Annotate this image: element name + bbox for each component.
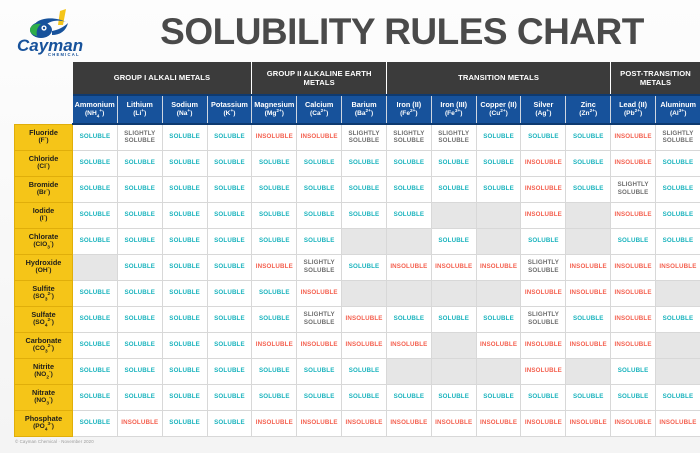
- table-row: Chloride(Cl-)SOLUBLESOLUBLESOLUBLESOLUBL…: [15, 150, 700, 176]
- cell-fluoride-calcium: INSOLUBLE: [297, 124, 342, 150]
- cell-bromide-iron-iii: SOLUBLE: [431, 176, 476, 202]
- svg-text:CHEMICAL: CHEMICAL: [48, 52, 80, 57]
- cell-nitrate-lead-ii: SOLUBLE: [611, 384, 656, 410]
- cell-nitrite-potassium: SOLUBLE: [207, 358, 252, 384]
- cell-hydroxide-calcium: SLIGHTLY SOLUBLE: [297, 254, 342, 280]
- cell-nitrate-zinc: SOLUBLE: [566, 384, 611, 410]
- anion-header-nitrate: Nitrate(NO3-): [15, 384, 73, 410]
- cell-carbonate-silver: INSOLUBLE: [521, 332, 566, 358]
- cell-chlorate-zinc: [566, 228, 611, 254]
- cell-phosphate-ammonium: SOLUBLE: [73, 410, 118, 436]
- anion-header-chlorate: Chlorate(ClO3-): [15, 228, 73, 254]
- cell-sulfite-sodium: SOLUBLE: [162, 280, 207, 306]
- cell-chlorate-lead-ii: SOLUBLE: [611, 228, 656, 254]
- cell-carbonate-lead-ii: INSOLUBLE: [611, 332, 656, 358]
- cell-nitrite-zinc: [566, 358, 611, 384]
- cell-iodide-barium: SOLUBLE: [342, 202, 387, 228]
- cell-carbonate-copper-ii: INSOLUBLE: [476, 332, 521, 358]
- cell-bromide-aluminum: SOLUBLE: [656, 176, 700, 202]
- cell-sulfite-iron-iii: [431, 280, 476, 306]
- cell-fluoride-zinc: SOLUBLE: [566, 124, 611, 150]
- cell-nitrite-ammonium: SOLUBLE: [73, 358, 118, 384]
- cell-chlorate-barium: [342, 228, 387, 254]
- solubility-table: GROUP I ALKALI METALSGROUP II ALKALINE E…: [14, 62, 700, 437]
- cell-sulfite-magnesium: SOLUBLE: [252, 280, 297, 306]
- cell-carbonate-aluminum: [656, 332, 700, 358]
- cell-sulfite-silver: INSOLUBLE: [521, 280, 566, 306]
- cell-hydroxide-copper-ii: INSOLUBLE: [476, 254, 521, 280]
- cell-sulfite-potassium: SOLUBLE: [207, 280, 252, 306]
- copyright-footer: © Cayman Chemical · November 2020: [15, 439, 700, 444]
- cell-sulfate-lead-ii: INSOLUBLE: [611, 306, 656, 332]
- cell-sulfate-sodium: SOLUBLE: [162, 306, 207, 332]
- cell-fluoride-silver: SOLUBLE: [521, 124, 566, 150]
- cell-sulfate-barium: INSOLUBLE: [342, 306, 387, 332]
- cell-phosphate-silver: INSOLUBLE: [521, 410, 566, 436]
- cayman-chemical-logo: Cayman CHEMICAL: [14, 5, 110, 57]
- cell-bromide-sodium: SOLUBLE: [162, 176, 207, 202]
- cell-hydroxide-potassium: SOLUBLE: [207, 254, 252, 280]
- cell-chlorate-calcium: SOLUBLE: [297, 228, 342, 254]
- cell-sulfate-iron-iii: SOLUBLE: [431, 306, 476, 332]
- group-header-0: GROUP I ALKALI METALS: [73, 62, 252, 95]
- cell-chlorate-potassium: SOLUBLE: [207, 228, 252, 254]
- cell-nitrate-copper-ii: SOLUBLE: [476, 384, 521, 410]
- cell-iodide-sodium: SOLUBLE: [162, 202, 207, 228]
- cell-sulfite-iron-ii: [386, 280, 431, 306]
- cell-hydroxide-iron-ii: INSOLUBLE: [386, 254, 431, 280]
- table-row: Bromide(Br-)SOLUBLESOLUBLESOLUBLESOLUBLE…: [15, 176, 700, 202]
- cell-fluoride-lead-ii: INSOLUBLE: [611, 124, 656, 150]
- cell-phosphate-iron-iii: INSOLUBLE: [431, 410, 476, 436]
- cell-chlorate-lithium: SOLUBLE: [117, 228, 162, 254]
- cell-hydroxide-ammonium: [73, 254, 118, 280]
- cell-hydroxide-lithium: SOLUBLE: [117, 254, 162, 280]
- cell-bromide-ammonium: SOLUBLE: [73, 176, 118, 202]
- cell-hydroxide-iron-iii: INSOLUBLE: [431, 254, 476, 280]
- cation-header-copper-ii: Copper (II)(Cu2+): [476, 95, 521, 124]
- cell-nitrite-aluminum: [656, 358, 700, 384]
- table-row: Fluoride(F-)SOLUBLESLIGHTLY SOLUBLESOLUB…: [15, 124, 700, 150]
- anion-header-carbonate: Carbonate(CO32-): [15, 332, 73, 358]
- cell-sulfite-copper-ii: [476, 280, 521, 306]
- cell-carbonate-iron-iii: [431, 332, 476, 358]
- cell-phosphate-copper-ii: INSOLUBLE: [476, 410, 521, 436]
- cation-header-zinc: Zinc(Zn2+): [566, 95, 611, 124]
- cell-sulfite-lithium: SOLUBLE: [117, 280, 162, 306]
- page-header: Cayman CHEMICAL SOLUBILITY RULES CHART: [0, 0, 700, 62]
- cell-chloride-potassium: SOLUBLE: [207, 150, 252, 176]
- cell-nitrite-barium: SOLUBLE: [342, 358, 387, 384]
- cell-nitrate-lithium: SOLUBLE: [117, 384, 162, 410]
- cell-fluoride-iron-iii: SLIGHTLY SOLUBLE: [431, 124, 476, 150]
- cell-chlorate-iron-iii: SOLUBLE: [431, 228, 476, 254]
- cell-nitrite-iron-iii: [431, 358, 476, 384]
- cell-hydroxide-lead-ii: INSOLUBLE: [611, 254, 656, 280]
- cell-sulfite-calcium: INSOLUBLE: [297, 280, 342, 306]
- anion-header-sulfite: Sulfite(SO32-): [15, 280, 73, 306]
- cell-sulfate-copper-ii: SOLUBLE: [476, 306, 521, 332]
- cell-sulfate-silver: SLIGHTLY SOLUBLE: [521, 306, 566, 332]
- cell-sulfite-aluminum: [656, 280, 700, 306]
- cell-nitrite-copper-ii: [476, 358, 521, 384]
- cell-chlorate-iron-ii: [386, 228, 431, 254]
- table-row: Iodide(I-)SOLUBLESOLUBLESOLUBLESOLUBLESO…: [15, 202, 700, 228]
- cell-iodide-ammonium: SOLUBLE: [73, 202, 118, 228]
- cell-sulfite-zinc: INSOLUBLE: [566, 280, 611, 306]
- cell-iodide-copper-ii: [476, 202, 521, 228]
- cation-header-lithium: Lithium(Li+): [117, 95, 162, 124]
- cell-bromide-iron-ii: SOLUBLE: [386, 176, 431, 202]
- cell-chloride-copper-ii: SOLUBLE: [476, 150, 521, 176]
- cell-phosphate-calcium: INSOLUBLE: [297, 410, 342, 436]
- anion-header-phosphate: Phosphate(PO43-): [15, 410, 73, 436]
- cell-sulfite-ammonium: SOLUBLE: [73, 280, 118, 306]
- cell-chloride-zinc: SOLUBLE: [566, 150, 611, 176]
- table-row: Chlorate(ClO3-)SOLUBLESOLUBLESOLUBLESOLU…: [15, 228, 700, 254]
- cell-sulfate-potassium: SOLUBLE: [207, 306, 252, 332]
- cell-nitrate-iron-iii: SOLUBLE: [431, 384, 476, 410]
- cell-bromide-silver: INSOLUBLE: [521, 176, 566, 202]
- cell-iodide-calcium: SOLUBLE: [297, 202, 342, 228]
- cell-bromide-magnesium: SOLUBLE: [252, 176, 297, 202]
- cell-phosphate-lithium: INSOLUBLE: [117, 410, 162, 436]
- cell-hydroxide-barium: SOLUBLE: [342, 254, 387, 280]
- cell-sulfite-barium: [342, 280, 387, 306]
- cell-sulfate-aluminum: SOLUBLE: [656, 306, 700, 332]
- table-row: Carbonate(CO32-)SOLUBLESOLUBLESOLUBLESOL…: [15, 332, 700, 358]
- group-header-2: TRANSITION METALS: [386, 62, 610, 95]
- solubility-table-body: Fluoride(F-)SOLUBLESLIGHTLY SOLUBLESOLUB…: [15, 124, 700, 436]
- cell-chloride-silver: INSOLUBLE: [521, 150, 566, 176]
- cell-nitrite-magnesium: SOLUBLE: [252, 358, 297, 384]
- table-row: Sulfite(SO32-)SOLUBLESOLUBLESOLUBLESOLUB…: [15, 280, 700, 306]
- cell-iodide-potassium: SOLUBLE: [207, 202, 252, 228]
- cell-bromide-calcium: SOLUBLE: [297, 176, 342, 202]
- cell-phosphate-aluminum: INSOLUBLE: [656, 410, 700, 436]
- cell-fluoride-copper-ii: SOLUBLE: [476, 124, 521, 150]
- group-header-corner: [15, 62, 73, 95]
- cell-sulfite-lead-ii: INSOLUBLE: [611, 280, 656, 306]
- cell-iodide-aluminum: SOLUBLE: [656, 202, 700, 228]
- cell-carbonate-lithium: SOLUBLE: [117, 332, 162, 358]
- cell-nitrate-ammonium: SOLUBLE: [73, 384, 118, 410]
- cell-nitrite-calcium: SOLUBLE: [297, 358, 342, 384]
- cell-carbonate-sodium: SOLUBLE: [162, 332, 207, 358]
- cation-header-row: Ammonium(NH4+)Lithium(Li+)Sodium(Na+)Pot…: [15, 95, 700, 124]
- cell-sulfate-magnesium: SOLUBLE: [252, 306, 297, 332]
- table-row: Nitrate(NO3-)SOLUBLESOLUBLESOLUBLESOLUBL…: [15, 384, 700, 410]
- anion-header-sulfate: Sulfate(SO42-): [15, 306, 73, 332]
- anion-header-nitrite: Nitrite(NO2-): [15, 358, 73, 384]
- cell-fluoride-magnesium: INSOLUBLE: [252, 124, 297, 150]
- cell-chlorate-copper-ii: [476, 228, 521, 254]
- cell-nitrate-barium: SOLUBLE: [342, 384, 387, 410]
- group-header-1: GROUP II ALKALINE EARTH METALS: [252, 62, 387, 95]
- cation-header-potassium: Potassium(K+): [207, 95, 252, 124]
- cell-chlorate-silver: SOLUBLE: [521, 228, 566, 254]
- cell-bromide-barium: SOLUBLE: [342, 176, 387, 202]
- cell-fluoride-ammonium: SOLUBLE: [73, 124, 118, 150]
- table-row: Phosphate(PO43-)SOLUBLEINSOLUBLESOLUBLES…: [15, 410, 700, 436]
- cell-fluoride-barium: SLIGHTLY SOLUBLE: [342, 124, 387, 150]
- cell-chloride-iron-iii: SOLUBLE: [431, 150, 476, 176]
- cell-nitrite-lead-ii: SOLUBLE: [611, 358, 656, 384]
- cell-chlorate-ammonium: SOLUBLE: [73, 228, 118, 254]
- cell-phosphate-magnesium: INSOLUBLE: [252, 410, 297, 436]
- cell-chloride-iron-ii: SOLUBLE: [386, 150, 431, 176]
- cell-nitrate-sodium: SOLUBLE: [162, 384, 207, 410]
- cayman-logo-mark: Cayman CHEMICAL: [14, 5, 110, 57]
- cell-nitrite-sodium: SOLUBLE: [162, 358, 207, 384]
- cell-hydroxide-silver: SLIGHTLY SOLUBLE: [521, 254, 566, 280]
- cell-sulfate-calcium: SLIGHTLY SOLUBLE: [297, 306, 342, 332]
- anion-header-bromide: Bromide(Br-): [15, 176, 73, 202]
- cell-carbonate-magnesium: INSOLUBLE: [252, 332, 297, 358]
- cell-nitrate-aluminum: SOLUBLE: [656, 384, 700, 410]
- cell-fluoride-sodium: SOLUBLE: [162, 124, 207, 150]
- cation-header-sodium: Sodium(Na+): [162, 95, 207, 124]
- cation-header-magnesium: Magnesium(Mg2+): [252, 95, 297, 124]
- cell-chloride-calcium: SOLUBLE: [297, 150, 342, 176]
- cell-carbonate-calcium: INSOLUBLE: [297, 332, 342, 358]
- cell-sulfate-zinc: SOLUBLE: [566, 306, 611, 332]
- cell-phosphate-lead-ii: INSOLUBLE: [611, 410, 656, 436]
- cell-sulfate-ammonium: SOLUBLE: [73, 306, 118, 332]
- cell-chloride-lead-ii: INSOLUBLE: [611, 150, 656, 176]
- cell-iodide-iron-iii: [431, 202, 476, 228]
- cation-header-barium: Barium(Ba2+): [342, 95, 387, 124]
- cell-carbonate-ammonium: SOLUBLE: [73, 332, 118, 358]
- cell-nitrate-calcium: SOLUBLE: [297, 384, 342, 410]
- anion-header-fluoride: Fluoride(F-): [15, 124, 73, 150]
- cell-chloride-barium: SOLUBLE: [342, 150, 387, 176]
- table-row: Sulfate(SO42-)SOLUBLESOLUBLESOLUBLESOLUB…: [15, 306, 700, 332]
- cell-phosphate-sodium: SOLUBLE: [162, 410, 207, 436]
- cell-sulfate-iron-ii: SOLUBLE: [386, 306, 431, 332]
- cell-phosphate-potassium: SOLUBLE: [207, 410, 252, 436]
- cell-nitrate-silver: SOLUBLE: [521, 384, 566, 410]
- cell-bromide-lead-ii: SLIGHTLY SOLUBLE: [611, 176, 656, 202]
- cation-header-lead-ii: Lead (II)(Pb2+): [611, 95, 656, 124]
- cell-bromide-copper-ii: SOLUBLE: [476, 176, 521, 202]
- cation-header-silver: Silver(Ag+): [521, 95, 566, 124]
- cell-chloride-lithium: SOLUBLE: [117, 150, 162, 176]
- cell-phosphate-barium: INSOLUBLE: [342, 410, 387, 436]
- anion-header-iodide: Iodide(I-): [15, 202, 73, 228]
- cell-iodide-silver: INSOLUBLE: [521, 202, 566, 228]
- cell-chloride-magnesium: SOLUBLE: [252, 150, 297, 176]
- cation-header-calcium: Calcium(Ca2+): [297, 95, 342, 124]
- cation-header-aluminum: Aluminum(Al3+): [656, 95, 700, 124]
- cell-chlorate-aluminum: SOLUBLE: [656, 228, 700, 254]
- cell-nitrate-iron-ii: SOLUBLE: [386, 384, 431, 410]
- cell-chloride-aluminum: SOLUBLE: [656, 150, 700, 176]
- cell-fluoride-potassium: SOLUBLE: [207, 124, 252, 150]
- cell-iodide-lead-ii: INSOLUBLE: [611, 202, 656, 228]
- cell-hydroxide-sodium: SOLUBLE: [162, 254, 207, 280]
- anion-header-chloride: Chloride(Cl-): [15, 150, 73, 176]
- cell-sulfate-lithium: SOLUBLE: [117, 306, 162, 332]
- cell-bromide-lithium: SOLUBLE: [117, 176, 162, 202]
- group-header-row: GROUP I ALKALI METALSGROUP II ALKALINE E…: [15, 62, 700, 95]
- cell-hydroxide-magnesium: INSOLUBLE: [252, 254, 297, 280]
- cell-chloride-ammonium: SOLUBLE: [73, 150, 118, 176]
- cation-header-iron-iii: Iron (III)(Fe3+): [431, 95, 476, 124]
- table-row: Hydroxide(OH-)SOLUBLESOLUBLESOLUBLEINSOL…: [15, 254, 700, 280]
- cell-phosphate-zinc: INSOLUBLE: [566, 410, 611, 436]
- cell-hydroxide-aluminum: INSOLUBLE: [656, 254, 700, 280]
- cation-header-iron-ii: Iron (II)(Fe2+): [386, 95, 431, 124]
- cell-chlorate-sodium: SOLUBLE: [162, 228, 207, 254]
- cell-carbonate-zinc: INSOLUBLE: [566, 332, 611, 358]
- cell-iodide-zinc: [566, 202, 611, 228]
- cell-nitrate-magnesium: SOLUBLE: [252, 384, 297, 410]
- table-row: Nitrite(NO2-)SOLUBLESOLUBLESOLUBLESOLUBL…: [15, 358, 700, 384]
- solubility-chart-page: Cayman CHEMICAL SOLUBILITY RULES CHART G…: [0, 0, 700, 453]
- cell-chlorate-magnesium: SOLUBLE: [252, 228, 297, 254]
- cell-nitrite-lithium: SOLUBLE: [117, 358, 162, 384]
- cell-fluoride-lithium: SLIGHTLY SOLUBLE: [117, 124, 162, 150]
- cell-carbonate-potassium: SOLUBLE: [207, 332, 252, 358]
- cell-phosphate-iron-ii: INSOLUBLE: [386, 410, 431, 436]
- cell-carbonate-iron-ii: INSOLUBLE: [386, 332, 431, 358]
- cell-iodide-iron-ii: SOLUBLE: [386, 202, 431, 228]
- cell-nitrite-silver: INSOLUBLE: [521, 358, 566, 384]
- anion-header-hydroxide: Hydroxide(OH-): [15, 254, 73, 280]
- cation-header-ammonium: Ammonium(NH4+): [73, 95, 118, 124]
- page-title: SOLUBILITY RULES CHART: [110, 13, 700, 50]
- cell-iodide-magnesium: SOLUBLE: [252, 202, 297, 228]
- cell-nitrite-iron-ii: [386, 358, 431, 384]
- cell-bromide-potassium: SOLUBLE: [207, 176, 252, 202]
- cell-iodide-lithium: SOLUBLE: [117, 202, 162, 228]
- cell-fluoride-aluminum: SLIGHTLY SOLUBLE: [656, 124, 700, 150]
- cell-fluoride-iron-ii: SLIGHTLY SOLUBLE: [386, 124, 431, 150]
- cation-header-corner: [15, 95, 73, 124]
- group-header-3: POST-TRANSITION METALS: [611, 62, 700, 95]
- cell-nitrate-potassium: SOLUBLE: [207, 384, 252, 410]
- cell-chloride-sodium: SOLUBLE: [162, 150, 207, 176]
- cell-bromide-zinc: SOLUBLE: [566, 176, 611, 202]
- cell-hydroxide-zinc: INSOLUBLE: [566, 254, 611, 280]
- cell-carbonate-barium: INSOLUBLE: [342, 332, 387, 358]
